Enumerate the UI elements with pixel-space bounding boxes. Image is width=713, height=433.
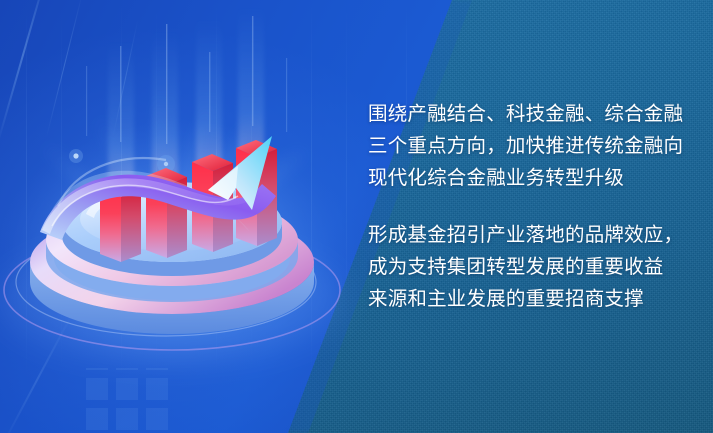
sparkle-dot-1-halo — [69, 149, 83, 163]
bar-1-side — [121, 189, 141, 262]
banner-canvas: 围绕产融结合、科技金融、综合金融 三个重点方向，加快推进传统金融向 现代化综合金… — [0, 0, 713, 433]
paragraph-2-line-1: 形成基金招引产业落地的品牌效应， — [368, 224, 683, 246]
growth-illustration — [0, 0, 360, 433]
paragraph-2-line-2: 成为支持集团转型发展的重要收益 — [368, 256, 664, 278]
paragraph-1-line-1: 围绕产融结合、科技金融、综合金融 — [368, 103, 683, 125]
paragraph-2-line-3: 来源和主业发展的重要招商支撑 — [368, 288, 644, 310]
text-column: 围绕产融结合、科技金融、综合金融 三个重点方向，加快推进传统金融向 现代化综合金… — [368, 98, 688, 315]
paragraph-1-line-2: 三个重点方向，加快推进传统金融向 — [368, 135, 683, 157]
paragraph-1-line-3: 现代化综合金融业务转型升级 — [368, 167, 624, 189]
paragraph-1: 围绕产融结合、科技金融、综合金融 三个重点方向，加快推进传统金融向 现代化综合金… — [368, 98, 688, 194]
paragraph-2: 形成基金招引产业落地的品牌效应， 成为支持集团转型发展的重要收益 来源和主业发展… — [368, 219, 688, 315]
